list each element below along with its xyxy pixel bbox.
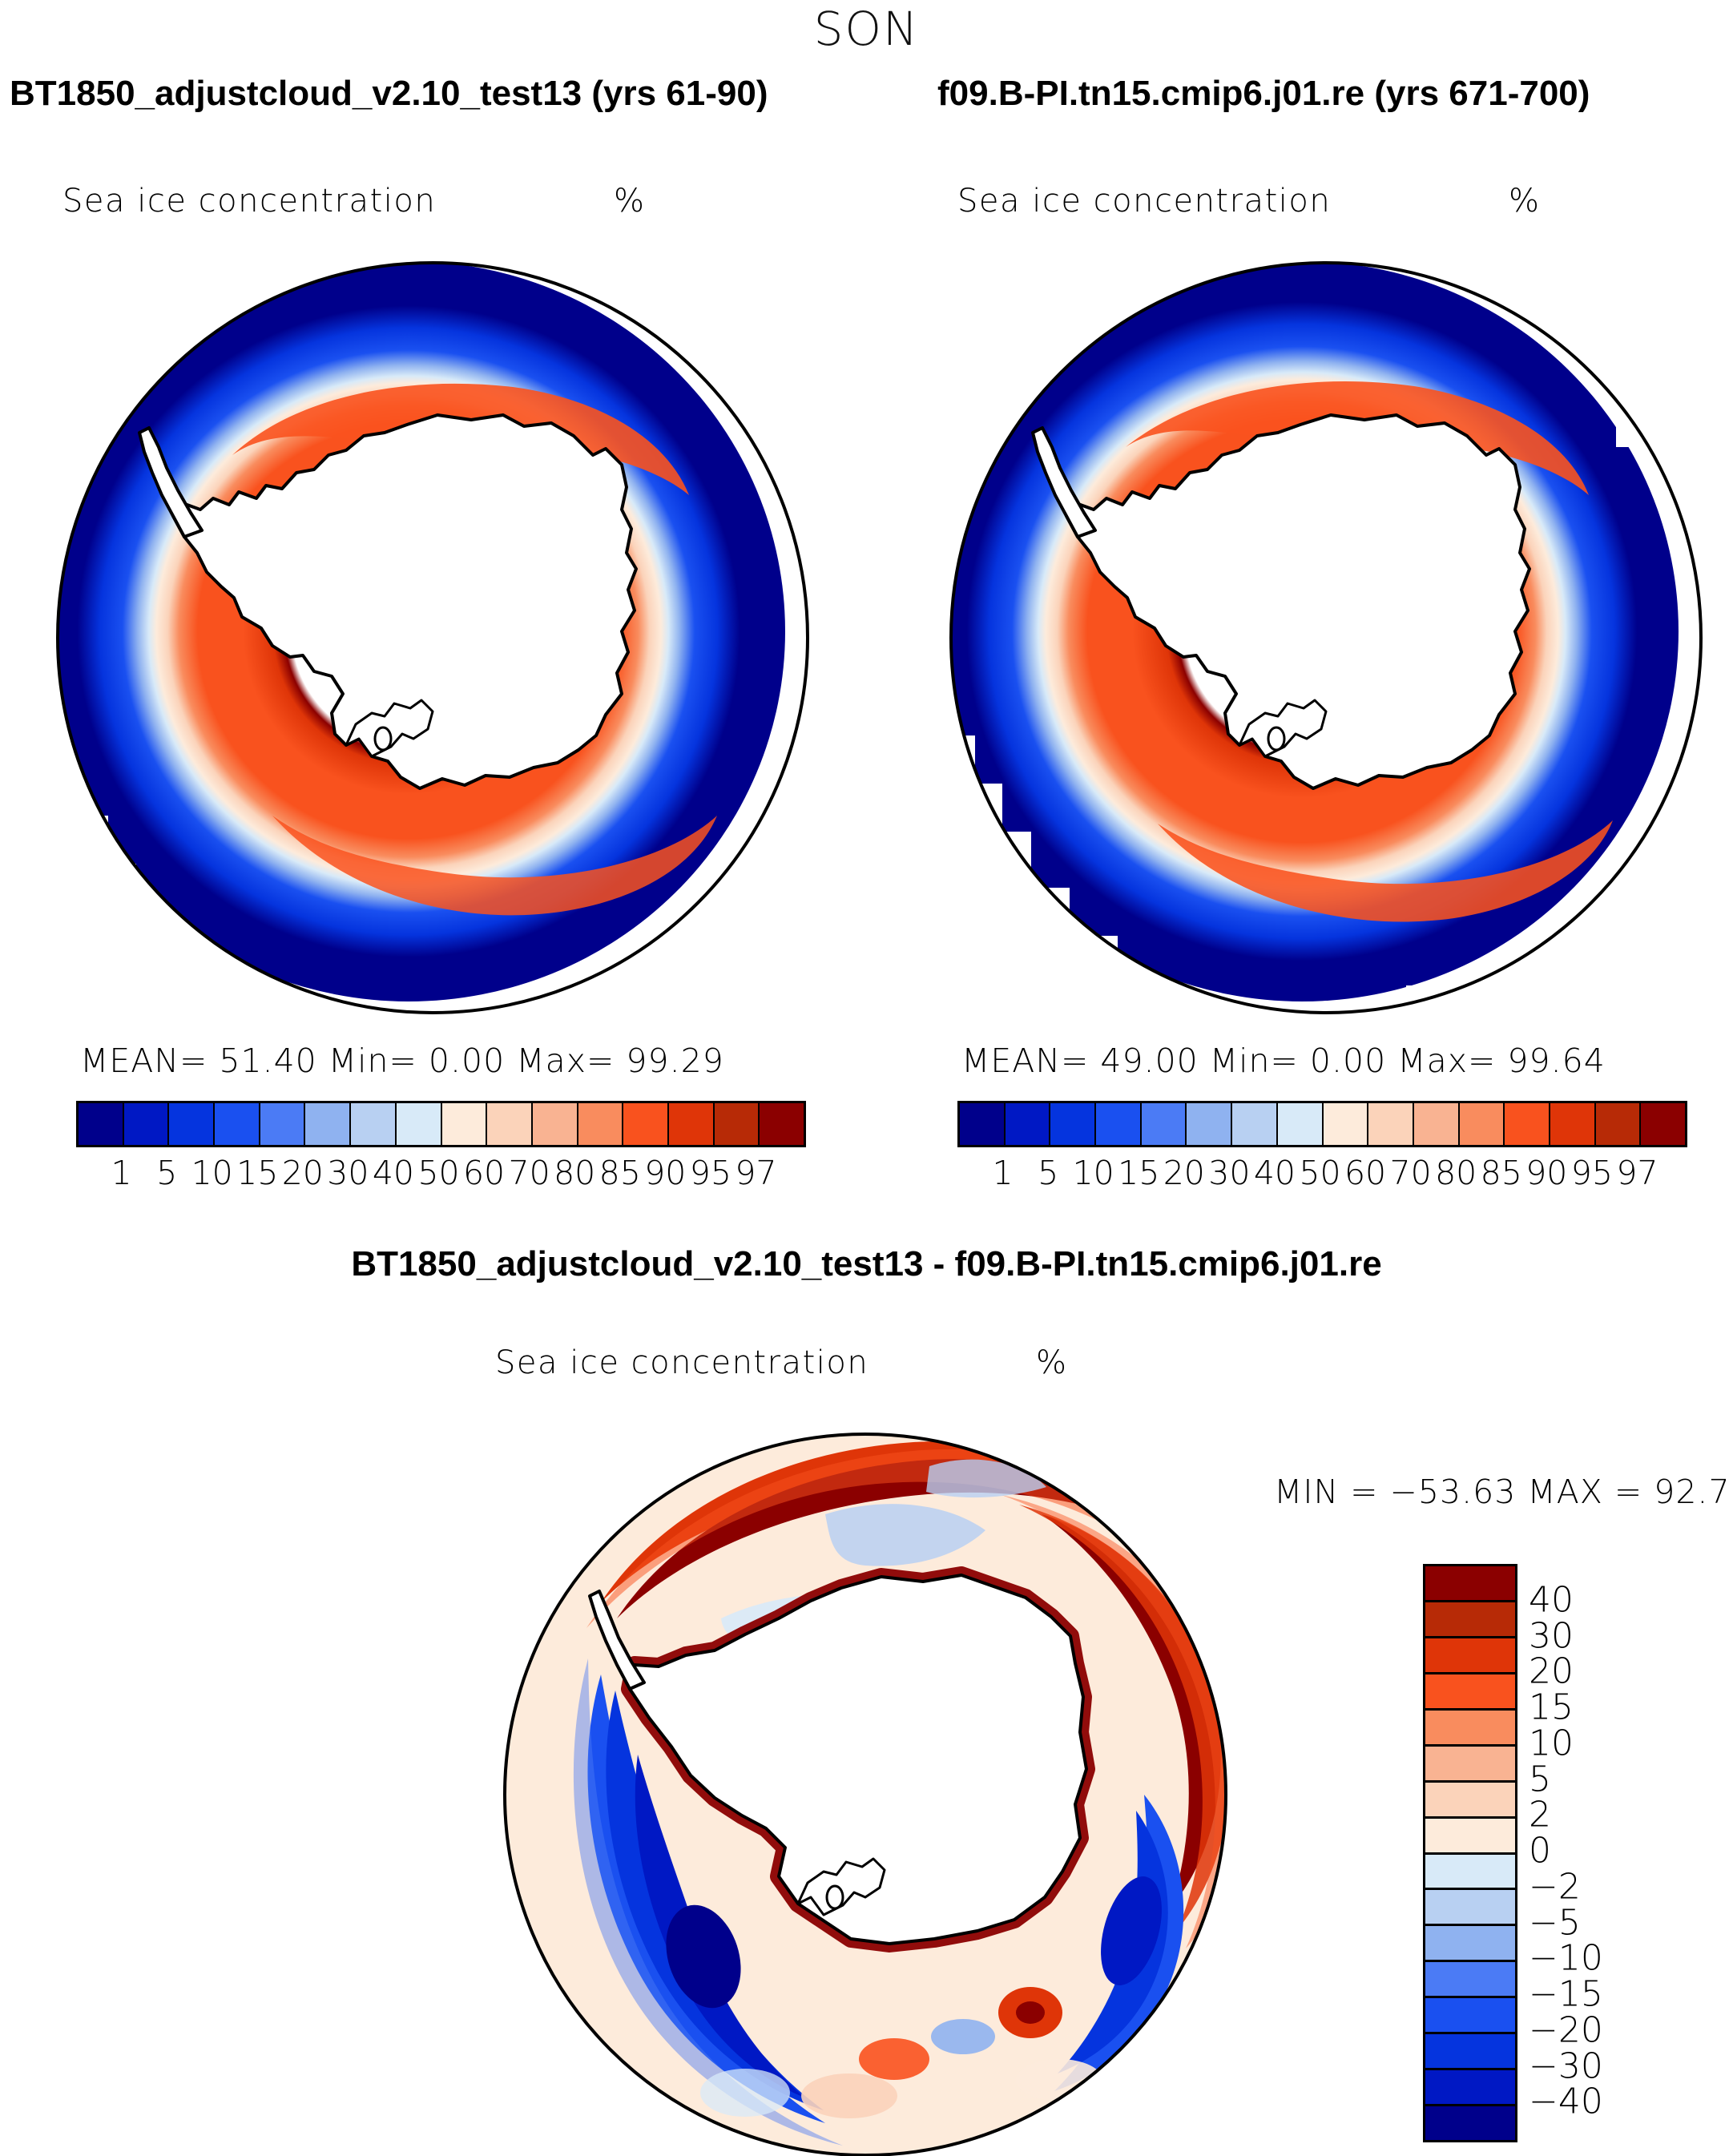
right-colorbar-cell[interactable] [1187,1103,1232,1145]
right-colorbar-cell[interactable] [1505,1103,1550,1145]
diff-colorbar-cell[interactable] [1425,1998,1515,2034]
left-colorbar-cell[interactable] [215,1103,260,1145]
diff-colorbar-cell[interactable] [1425,2034,1515,2070]
diff-colorbar-tick-label: 40 [1529,1579,1574,1620]
left-colorbar-tick-label: 60 [463,1154,505,1192]
diff-colorbar-tick-label: −20 [1529,2009,1603,2050]
right-colorbar-tick-label: 70 [1390,1154,1432,1192]
right-colorbar-cell[interactable] [1142,1103,1187,1145]
left-colorbar-ticks: 1510152030405060708085909597 [76,1154,801,1194]
left-colorbar-tick-label: 85 [599,1154,641,1192]
right-colorbar-cell[interactable] [1550,1103,1596,1145]
diff-colorbar-cell[interactable] [1425,1962,1515,1998]
left-colorbar-tick-label: 97 [735,1154,776,1192]
diff-colorbar-cell[interactable] [1425,1926,1515,1962]
left-colorbar-tick-label: 15 [236,1154,278,1192]
right-colorbar-cell[interactable] [1096,1103,1142,1145]
diff-colorbar-tick-label: 15 [1529,1687,1574,1728]
right-colorbar-tick-label: 50 [1299,1154,1340,1192]
right-colorbar-tick-label: 30 [1208,1154,1250,1192]
diff-colorbar-tick-label: −5 [1529,1902,1581,1943]
left-colorbar-tick-label: 5 [156,1154,177,1192]
right-colorbar-ticks: 1510152030405060708085909597 [957,1154,1683,1194]
left-colorbar-tick-label: 30 [327,1154,369,1192]
diff-colorbar-tick-label: −40 [1529,2081,1603,2122]
right-polar-map [925,255,1727,1024]
right-colorbar-tick-label: 40 [1254,1154,1296,1192]
left-colorbar-cell[interactable] [487,1103,533,1145]
left-colorbar-cell[interactable] [351,1103,397,1145]
right-colorbar-cell[interactable] [1596,1103,1642,1145]
right-variable-unit: % [1509,183,1541,220]
right-colorbar-tick-label: 10 [1073,1154,1114,1192]
diff-colorbar-tick-label: 10 [1529,1723,1574,1763]
right-colorbar-tick-label: 5 [1038,1154,1058,1192]
left-colorbar-tick-label: 95 [690,1154,731,1192]
right-colorbar-cell[interactable] [1368,1103,1414,1145]
diff-colorbar[interactable] [1423,1564,1517,2142]
diff-colorbar-cell[interactable] [1425,1566,1515,1602]
right-colorbar-tick-label: 60 [1344,1154,1386,1192]
left-panel-stats: MEAN= 51.40 Min= 0.00 Max= 99.29 [80,1042,724,1080]
left-colorbar-tick-label: 70 [509,1154,550,1192]
left-colorbar-tick-label: 80 [554,1154,595,1192]
left-colorbar-tick-label: 10 [191,1154,233,1192]
left-colorbar-cell[interactable] [169,1103,215,1145]
right-colorbar-tick-label: 90 [1525,1154,1567,1192]
left-colorbar-cell[interactable] [533,1103,578,1145]
right-colorbar-cell[interactable] [1050,1103,1096,1145]
right-colorbar-cell[interactable] [1641,1103,1685,1145]
right-colorbar-tick-label: 95 [1571,1154,1613,1192]
right-colorbar-tick-label: 15 [1118,1154,1159,1192]
left-colorbar-cell[interactable] [79,1103,124,1145]
left-colorbar-tick-label: 1 [111,1154,132,1192]
diff-colorbar-tick-label: 5 [1529,1759,1551,1799]
right-colorbar-tick-label: 20 [1163,1154,1205,1192]
right-colorbar-cell[interactable] [1460,1103,1505,1145]
diff-colorbar-cell[interactable] [1425,1783,1515,1819]
diff-colorbar-tick-label: 0 [1529,1831,1551,1872]
diff-colorbar-cell[interactable] [1425,1855,1515,1891]
right-colorbar[interactable] [957,1101,1687,1147]
diff-colorbar-cell[interactable] [1425,1711,1515,1747]
diff-colorbar-cell[interactable] [1425,2106,1515,2140]
left-variable-unit: % [614,183,646,220]
diff-colorbar-cell[interactable] [1425,2070,1515,2106]
diff-colorbar-tick-label: 20 [1529,1651,1574,1692]
right-colorbar-cell[interactable] [1006,1103,1051,1145]
right-colorbar-cell[interactable] [1324,1103,1369,1145]
left-colorbar-cell[interactable] [305,1103,351,1145]
right-colorbar-cell[interactable] [1278,1103,1324,1145]
diff-variable-unit: % [1036,1344,1068,1381]
left-colorbar-cell[interactable] [124,1103,170,1145]
diff-colorbar-cell[interactable] [1425,1674,1515,1711]
diff-colorbar-cell[interactable] [1425,1890,1515,1926]
diff-colorbar-ticks: 4030201510520−2−5−10−15−20−30−40 [1529,1564,1705,2138]
left-variable-name: Sea ice concentration [62,183,436,220]
left-colorbar-cell[interactable] [397,1103,442,1145]
left-colorbar-cell[interactable] [669,1103,715,1145]
right-colorbar-tick-label: 1 [993,1154,1014,1192]
left-panel-title: BT1850_adjustcloud_v2.10_test13 (yrs 61-… [10,74,768,114]
right-panel-title: f09.B-PI.tn15.cmip6.j01.re (yrs 671-700) [937,74,1590,114]
left-colorbar-cell[interactable] [578,1103,624,1145]
right-colorbar-tick-label: 85 [1481,1154,1522,1192]
diff-variable-name: Sea ice concentration [495,1344,869,1381]
left-colorbar[interactable] [76,1101,806,1147]
right-colorbar-tick-label: 80 [1435,1154,1477,1192]
left-colorbar-cell[interactable] [442,1103,488,1145]
right-colorbar-cell[interactable] [1414,1103,1460,1145]
diff-colorbar-tick-label: −30 [1529,2045,1603,2086]
right-colorbar-cell[interactable] [1232,1103,1278,1145]
diff-colorbar-cell[interactable] [1425,1819,1515,1855]
diff-colorbar-tick-label: −15 [1529,1974,1603,2015]
left-colorbar-tick-label: 40 [373,1154,414,1192]
left-colorbar-tick-label: 20 [282,1154,324,1192]
diff-colorbar-tick-label: 30 [1529,1615,1574,1656]
figure-season-title: SON [0,2,1733,56]
left-colorbar-cell[interactable] [715,1103,760,1145]
left-colorbar-cell[interactable] [760,1103,804,1145]
right-panel-stats: MEAN= 49.00 Min= 0.00 Max= 99.64 [961,1042,1606,1080]
right-variable-name: Sea ice concentration [957,183,1331,220]
diff-colorbar-cell[interactable] [1425,1747,1515,1783]
diff-colorbar-tick-label: −2 [1529,1866,1581,1907]
diff-colorbar-tick-label: 2 [1529,1795,1551,1836]
right-colorbar-cell[interactable] [960,1103,1006,1145]
left-colorbar-tick-label: 50 [417,1154,459,1192]
right-colorbar-tick-label: 97 [1616,1154,1658,1192]
left-colorbar-tick-label: 90 [644,1154,686,1192]
left-colorbar-cell[interactable] [623,1103,669,1145]
diff-colorbar-tick-label: −10 [1529,1938,1603,1979]
diff-minmax-annotation: MIN = −53.63 MAX = 92.79 [1274,1473,1733,1511]
diff-panel-title: BT1850_adjustcloud_v2.10_test13 - f09.B-… [0,1244,1733,1284]
diff-polar-map [481,1418,1250,2156]
diff-colorbar-cell[interactable] [1425,1602,1515,1638]
diff-colorbar-cell[interactable] [1425,1638,1515,1674]
left-polar-map [32,255,833,1024]
left-colorbar-cell[interactable] [260,1103,306,1145]
